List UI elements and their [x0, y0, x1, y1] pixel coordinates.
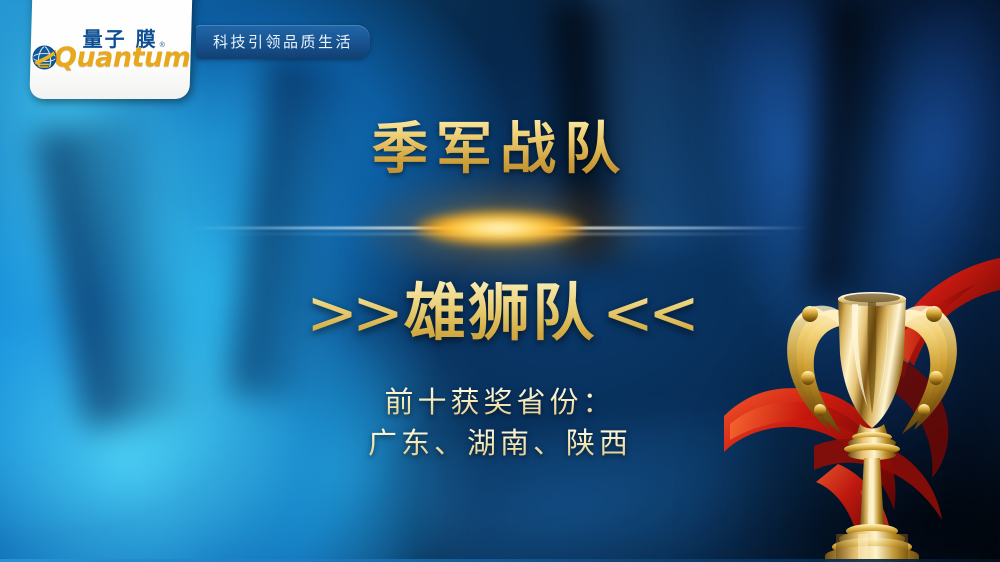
rank-title: 季军战队 — [0, 104, 1000, 185]
trophy-group — [718, 238, 1000, 562]
award-slide: 量子 膜 ® Quantum — [0, 0, 1000, 562]
arrow-left-suffix: << — [596, 276, 700, 349]
brand-tagline: 科技引领品质生活 — [196, 25, 370, 59]
brand-logo-badge: 量子 膜 ® Quantum — [29, 0, 192, 99]
red-ribbon-icon — [718, 238, 1000, 562]
globe-swoosh-icon — [31, 44, 58, 71]
arrow-right-prefix: >> — [300, 276, 404, 349]
team-name: 雄狮队 — [404, 276, 596, 349]
brand-logo-latin: Quantum — [54, 44, 190, 71]
